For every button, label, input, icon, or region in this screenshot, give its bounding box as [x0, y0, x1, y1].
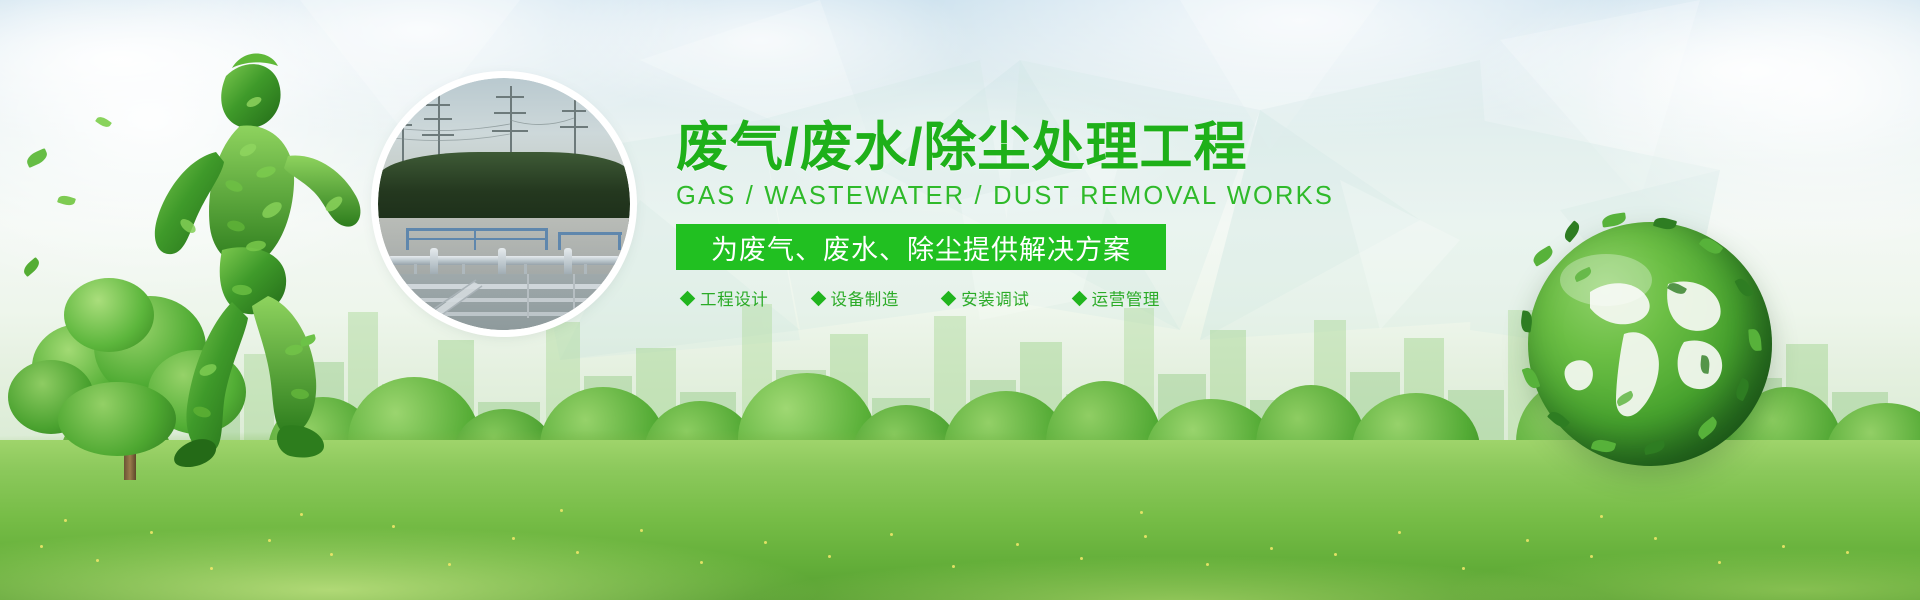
slogan-text: 为废气、废水、除尘提供解决方案: [711, 228, 1131, 267]
service-bullet-1[interactable]: 工程设计: [682, 286, 768, 310]
wastewater-plant-photo: [378, 78, 630, 330]
service-bullet-3[interactable]: 安装调试: [943, 286, 1029, 310]
diamond-icon: [941, 290, 957, 306]
service-bullet-label: 安装调试: [961, 286, 1029, 310]
leaf-man-svg: [128, 50, 388, 470]
diamond-icon: [1071, 290, 1087, 306]
right-haze: [1400, 0, 1920, 430]
diamond-icon: [680, 290, 696, 306]
service-bullet-list: 工程设计 设备制造 安装调试 运营管理: [676, 286, 1166, 310]
leaf-man-figure: [128, 50, 388, 470]
slogan-bar: 为废气、废水、除尘提供解决方案: [676, 224, 1166, 270]
service-bullet-4[interactable]: 运营管理: [1074, 286, 1160, 310]
service-bullet-label: 工程设计: [700, 286, 768, 310]
page-title: 废气/废水/除尘处理工程: [676, 120, 1196, 176]
eco-engineering-banner: 废气/废水/除尘处理工程 GAS / WASTEWATER / DUST REM…: [0, 0, 1920, 600]
service-bullet-2[interactable]: 设备制造: [813, 286, 899, 310]
headline-block: 废气/废水/除尘处理工程 GAS / WASTEWATER / DUST REM…: [676, 120, 1196, 310]
page-subtitle-english: GAS / WASTEWATER / DUST REMOVAL WORKS: [676, 182, 1196, 211]
service-bullet-label: 运营管理: [1092, 286, 1160, 310]
service-bullet-label: 设备制造: [831, 286, 899, 310]
diamond-icon: [810, 290, 826, 306]
